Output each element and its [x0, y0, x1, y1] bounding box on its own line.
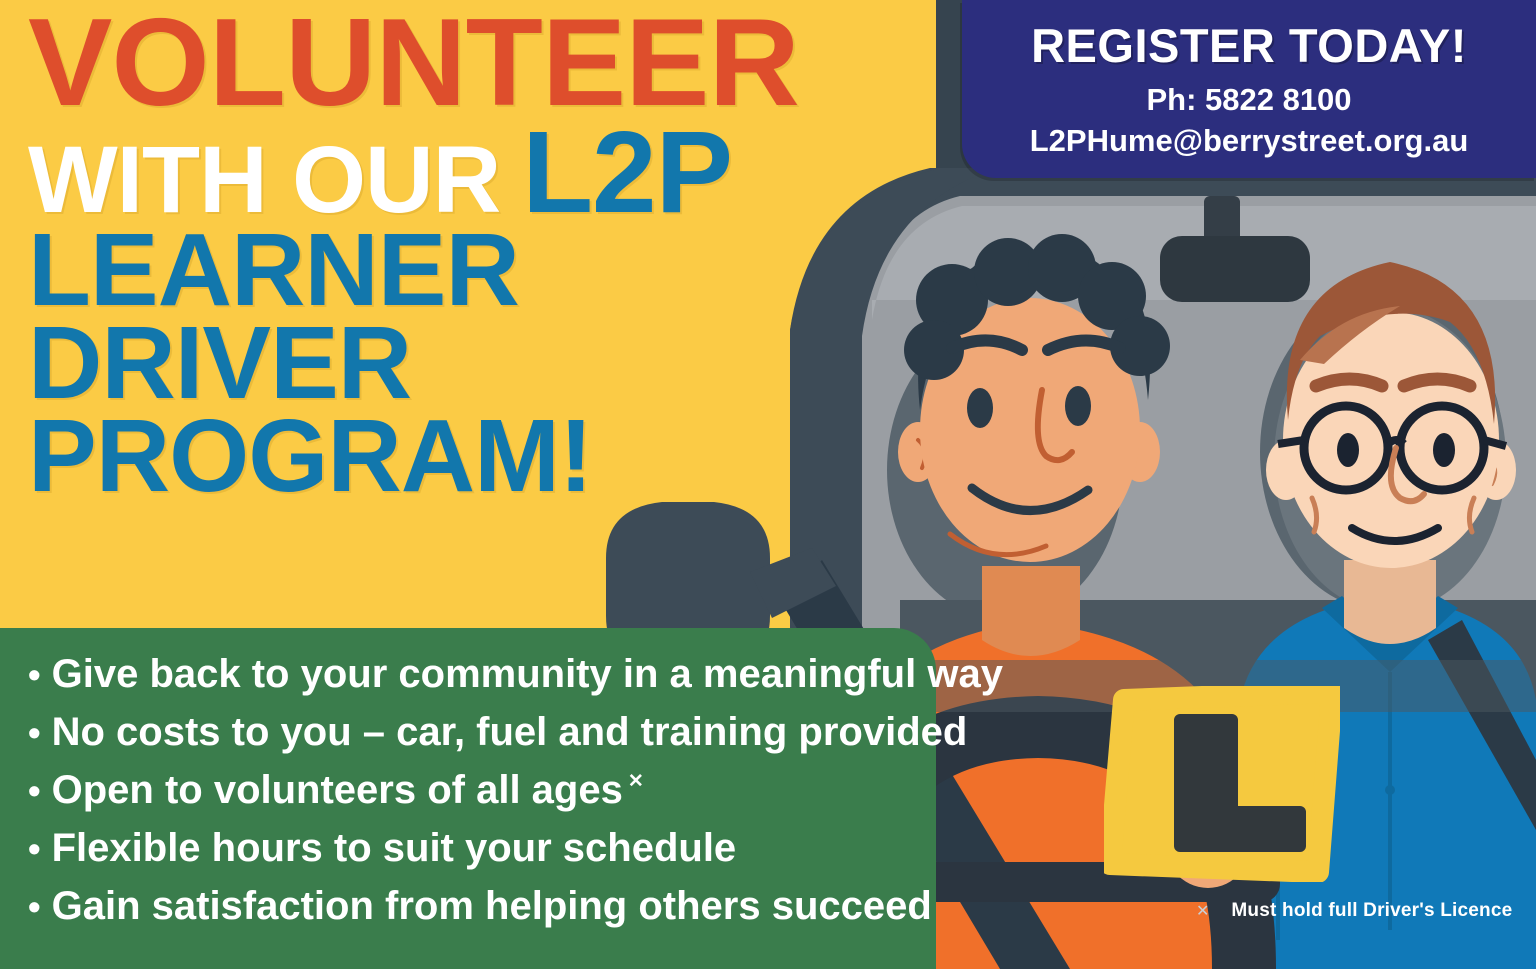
headline-program: PROGRAM!: [28, 412, 928, 501]
list-item: • Gain satisfaction from helping others …: [28, 886, 936, 926]
bullet-dot-icon: •: [28, 657, 41, 693]
list-item: • Flexible hours to suit your schedule: [28, 828, 936, 868]
benefit-text: Open to volunteers of all ages: [52, 770, 623, 810]
learner-plate: [1104, 686, 1340, 882]
headline-volunteer: VOLUNTEER: [28, 10, 946, 117]
register-phone[interactable]: Ph: 5822 8100: [962, 69, 1536, 120]
bullet-dot-icon: •: [28, 831, 41, 867]
benefit-footnote-mark: ✕: [628, 772, 644, 791]
list-item: • No costs to you – car, fuel and traini…: [28, 712, 936, 752]
list-item: • Open to volunteers of all ages ✕: [28, 770, 936, 810]
benefit-text: Gain satisfaction from helping others su…: [52, 886, 932, 926]
headline-block: VOLUNTEER WITH OURL2P LEARNER DRIVER PRO…: [28, 10, 928, 500]
footnote: ✕ Must hold full Driver's Licence: [1196, 900, 1512, 922]
footnote-text: Must hold full Driver's Licence: [1231, 900, 1512, 922]
headline-row-two: WITH OURL2P: [28, 123, 928, 223]
benefit-text: No costs to you – car, fuel and training…: [52, 712, 968, 752]
headline-driver: DRIVER: [28, 319, 928, 408]
register-title: REGISTER TODAY!: [962, 0, 1536, 69]
bullet-dot-icon: •: [28, 773, 41, 809]
register-email[interactable]: L2PHume@berrystreet.org.au: [962, 120, 1536, 159]
benefit-text: Give back to your community in a meaning…: [52, 654, 1003, 694]
bullet-dot-icon: •: [28, 715, 41, 751]
register-banner[interactable]: REGISTER TODAY! Ph: 5822 8100 L2PHume@be…: [962, 0, 1536, 178]
footnote-mark-icon: ✕: [1196, 901, 1209, 921]
list-item: • Give back to your community in a meani…: [28, 654, 936, 694]
bullet-dot-icon: •: [28, 889, 41, 925]
poster-root: VOLUNTEER WITH OURL2P LEARNER DRIVER PRO…: [0, 0, 1536, 969]
benefits-panel: • Give back to your community in a meani…: [0, 628, 936, 969]
benefit-text: Flexible hours to suit your schedule: [52, 828, 737, 868]
headline-learner: LEARNER: [28, 226, 928, 315]
